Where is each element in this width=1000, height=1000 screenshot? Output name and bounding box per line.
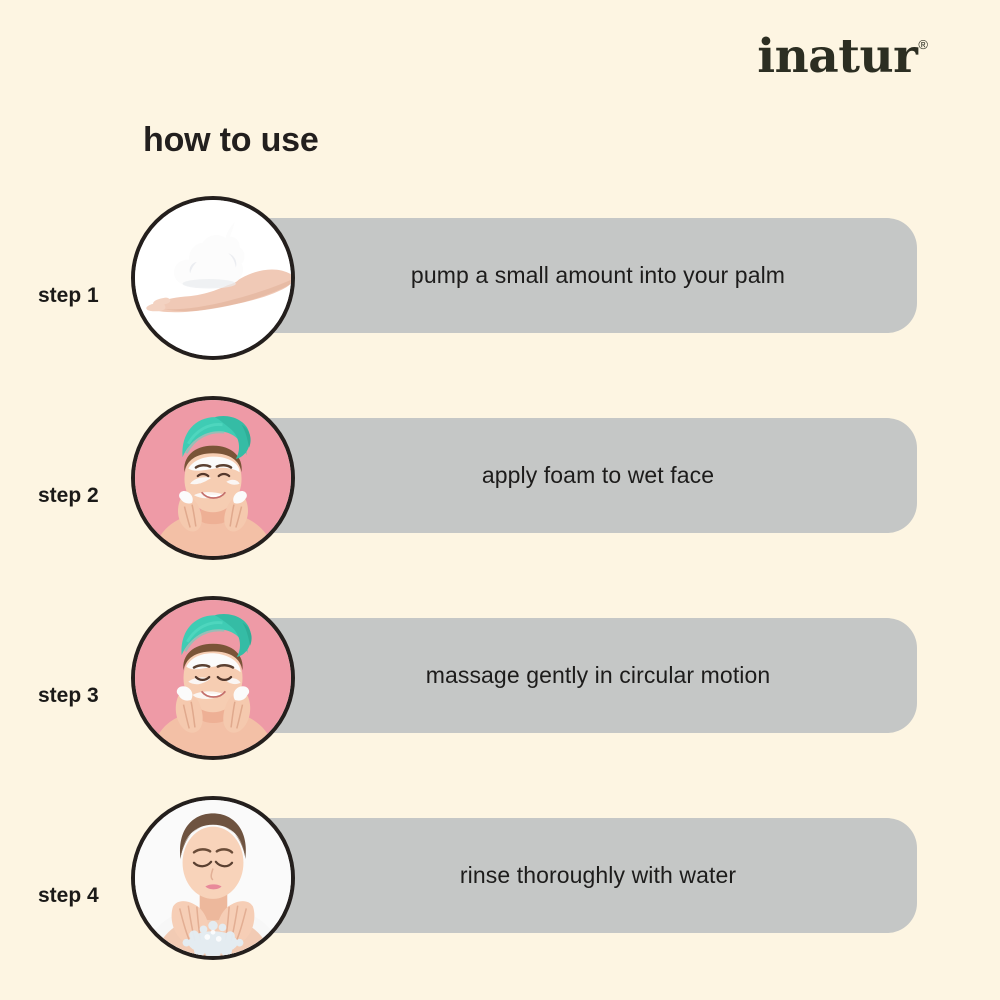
step-instruction-text: pump a small amount into your palm: [215, 218, 917, 333]
step-instruction-text: apply foam to wet face: [215, 418, 917, 533]
woman-applying-foam-illustration: [135, 400, 291, 556]
woman-rinsing-face-illustration: [135, 800, 291, 956]
step-row: step 2 apply foam to wet face: [0, 396, 1000, 596]
woman-massaging-face-photo: [131, 596, 295, 760]
woman-rinsing-face-photo: [131, 796, 295, 960]
step-row: step 1 pump a small amount into your pal…: [0, 196, 1000, 396]
palm-with-foam-illustration: [135, 200, 291, 356]
brand-wordmark: inatur: [757, 33, 917, 80]
step-bar: massage gently in circular motion: [215, 618, 917, 733]
step-row: step 4 rinse thoroughly with water: [0, 796, 1000, 996]
step-row: step 3 massage gently in circular motion: [0, 596, 1000, 796]
woman-massaging-face-illustration: [135, 600, 291, 756]
step-label: step 1: [38, 284, 99, 308]
step-instruction-text: massage gently in circular motion: [215, 618, 917, 733]
page-title: how to use: [143, 121, 319, 160]
registered-trademark-icon: ®: [918, 38, 928, 51]
steps-list: step 1 pump a small amount into your pal…: [0, 196, 1000, 996]
woman-applying-foam-photo: [131, 396, 295, 560]
step-label: step 3: [38, 684, 99, 708]
step-bar: pump a small amount into your palm: [215, 218, 917, 333]
brand-logo: inatur ®: [757, 33, 928, 80]
step-label: step 2: [38, 484, 99, 508]
step-bar: rinse thoroughly with water: [215, 818, 917, 933]
palm-with-foam-photo: [131, 196, 295, 360]
step-label: step 4: [38, 884, 99, 908]
step-instruction-text: rinse thoroughly with water: [215, 818, 917, 933]
step-bar: apply foam to wet face: [215, 418, 917, 533]
